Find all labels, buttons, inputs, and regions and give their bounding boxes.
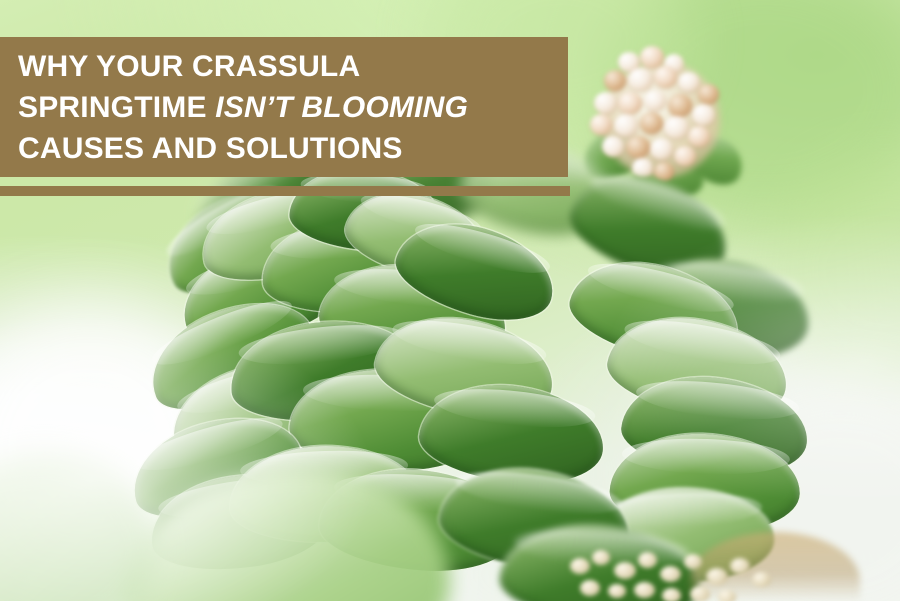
title-line-2: SPRINGTIME ISN’T BLOOMING [18, 87, 568, 128]
pebble [580, 580, 600, 596]
pebble [662, 588, 681, 601]
title-banner: WHY YOUR CRASSULA SPRINGTIME ISN’T BLOOM… [0, 37, 568, 177]
pebble [660, 566, 681, 582]
pebble [614, 562, 636, 579]
blog-header-canvas: WHY YOUR CRASSULA SPRINGTIME ISN’T BLOOM… [0, 0, 900, 601]
pebble [690, 586, 710, 601]
floret [654, 66, 677, 88]
floret [594, 92, 617, 114]
pebble [730, 558, 750, 574]
floret [618, 92, 642, 114]
pebble [634, 582, 655, 598]
pebble [608, 584, 626, 598]
pebble [752, 572, 771, 587]
floret [628, 68, 653, 91]
floret [674, 146, 696, 166]
floret [678, 72, 700, 92]
floret [626, 136, 650, 158]
floret [590, 114, 612, 135]
floret [664, 116, 689, 139]
title-line-2-normal: SPRINGTIME [18, 91, 215, 124]
floret [604, 70, 626, 91]
pebble [684, 554, 702, 569]
floret [614, 114, 638, 137]
pebble [570, 558, 590, 574]
floret [640, 46, 664, 68]
floret [688, 126, 710, 147]
floret [640, 112, 663, 134]
pebble [638, 552, 657, 568]
title-accent-bar [0, 186, 570, 196]
pebble [718, 590, 736, 601]
title-line-2-italic: ISN’T BLOOMING [215, 91, 468, 124]
floret [650, 138, 673, 160]
gravel-topdressing [560, 540, 860, 601]
title-line-3: CAUSES AND SOLUTIONS [18, 128, 568, 169]
title-line-1: WHY YOUR CRASSULA [18, 46, 568, 87]
floret [692, 104, 715, 126]
crassula-flower-cluster [588, 46, 736, 188]
pebble [706, 568, 728, 585]
floret [602, 136, 624, 157]
pebble [592, 550, 610, 565]
floret [644, 90, 666, 111]
floret [698, 84, 719, 104]
floret [668, 94, 692, 117]
